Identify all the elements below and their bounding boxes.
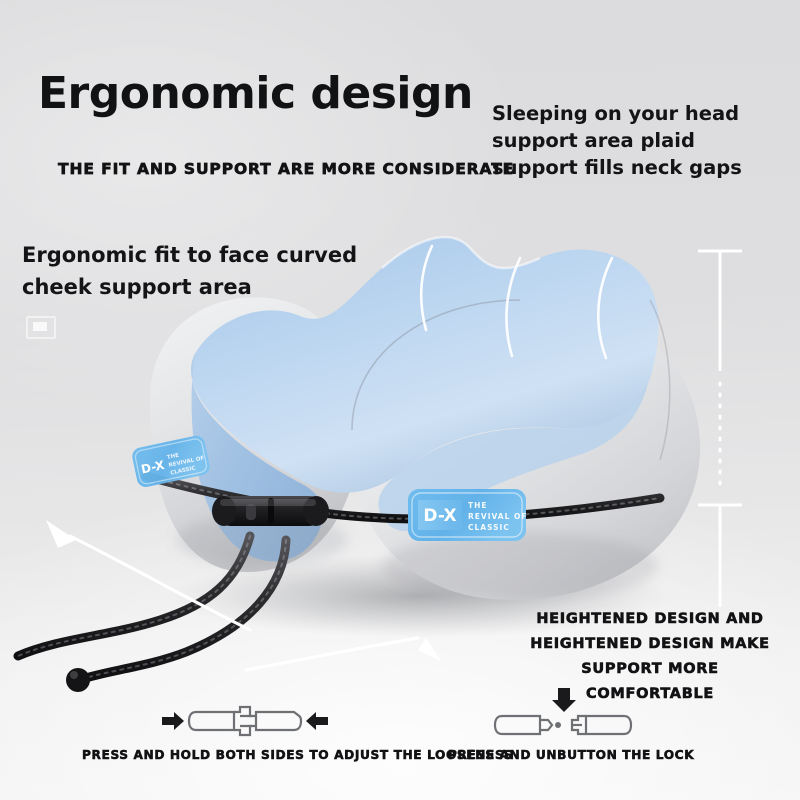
logo-tag-front-tagline-3: CLASSIC [468,523,510,532]
right-arrow-head [418,638,442,662]
cord-lock-icon-closed [189,707,301,735]
diagram-left-arrows [162,712,328,730]
watermark-placeholder-icon [26,316,56,339]
logo-tag-front-tagline-2: REVIVAL OF [468,512,527,521]
logo-tag-front-tagline-1: THE [468,501,488,510]
callout-top-right: Sleeping on your head support area plaid… [492,100,782,181]
page-title: Ergonomic design [38,68,473,119]
cord-lock-highlight [220,499,316,506]
right-arrow-shaft [246,638,418,670]
cord-lock-icon-open [495,716,631,734]
curved-arrow-head [46,520,76,548]
cord-lock-toggle[interactable] [212,496,329,526]
arrow-down-icon [552,688,576,712]
infographic-canvas: D-X THE REVIVAL OF CLASSIC D-X THE REVIV… [0,0,800,800]
cord-lock-button [246,504,256,520]
arrow-right-icon [162,712,184,730]
cord-end-bead [66,668,90,692]
diagram-adjust-looseness [160,698,330,744]
cord-bead-highlight [70,671,78,679]
diagram-unbutton-lock [478,686,648,744]
height-measure-line [690,243,750,613]
caption-unbutton-lock: PRESS AND UNBUTTON THE LOCK [448,748,694,762]
front-lobe-shading [382,532,658,600]
subheading: THE FIT AND SUPPORT ARE MORE CONSIDERATE [58,160,514,178]
logo-tag-front-brand: D-X [423,506,456,526]
callout-left: Ergonomic fit to face curved cheek suppo… [22,239,402,303]
arrow-left-icon [306,712,328,730]
logo-tag-front: D-X THE REVIVAL OF CLASSIC [408,489,527,541]
lock-pin-icon [555,722,561,728]
